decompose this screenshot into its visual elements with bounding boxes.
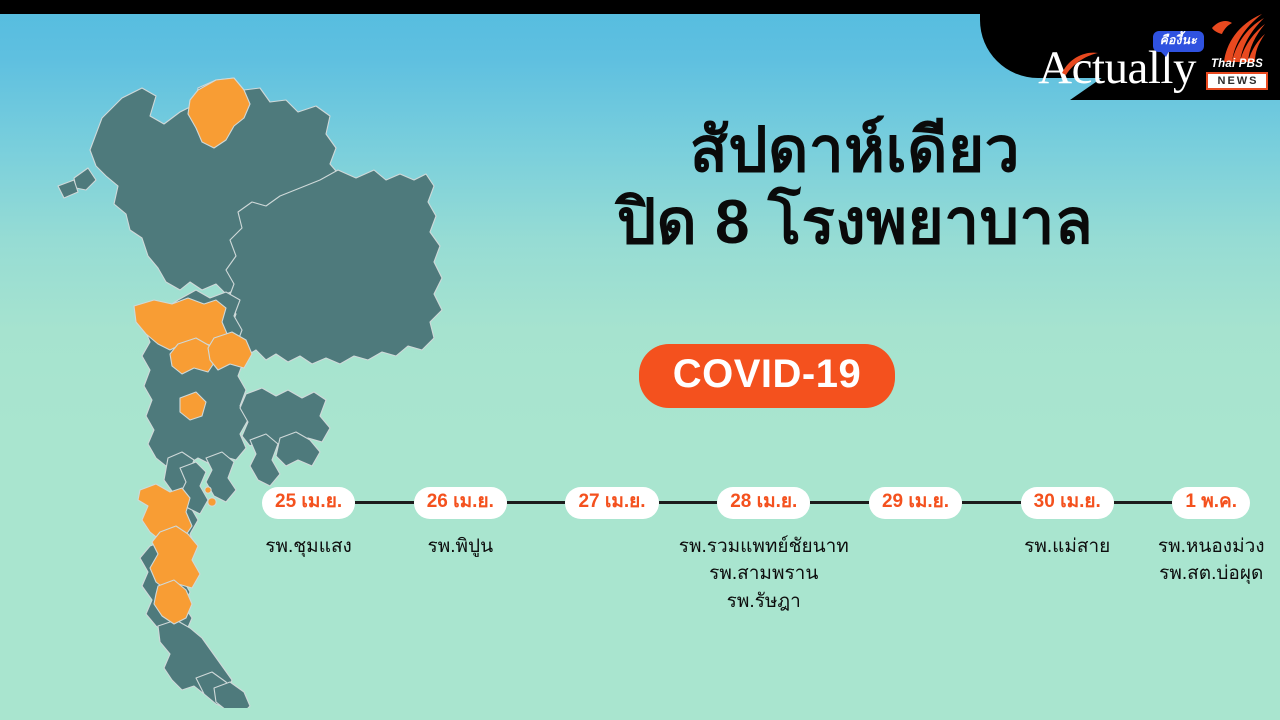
timeline-connector — [355, 501, 414, 504]
timeline-date-pill[interactable]: 25 เม.ย. — [262, 487, 355, 519]
timeline-labels: รพ.ชุมแสงรพ.พิปูนรพ.รวมแพทย์ชัยนาทรพ.สาม… — [262, 533, 1250, 673]
timeline-connector — [962, 501, 1021, 504]
thaipbs-name: Thai PBS — [1202, 58, 1272, 70]
island-samui — [205, 487, 211, 493]
hospital-name: รพ.แม่สาย — [1024, 533, 1110, 561]
timeline-date-pill[interactable]: 28 เม.ย. — [717, 487, 810, 519]
timeline-node-3[interactable]: 27 เม.ย. — [565, 487, 658, 519]
timeline-date-pill[interactable]: 26 เม.ย. — [414, 487, 507, 519]
timeline-date-pill[interactable]: 27 เม.ย. — [565, 487, 658, 519]
hospital-name: รพ.หนองม่วง — [1158, 533, 1265, 561]
page-title: สัปดาห์เดียว ปิด 8 โรงพยาบาล — [460, 118, 1250, 255]
timeline-date-pill[interactable]: 30 เม.ย. — [1021, 487, 1114, 519]
hospital-name: รพ.สต.บ่อผุด — [1158, 560, 1265, 588]
hospital-name: รพ.ชุมแสง — [265, 533, 352, 561]
timeline: 25 เม.ย.26 เม.ย.27 เม.ย.28 เม.ย.29 เม.ย.… — [262, 487, 1250, 687]
timeline-node-4[interactable]: 28 เม.ย. — [717, 487, 810, 519]
actually-logo: Actually คืองี้นะ — [1038, 45, 1196, 94]
khuengi-badge: คืองี้นะ — [1153, 31, 1204, 52]
timeline-hospital-list: รพ.หนองม่วงรพ.สต.บ่อผุด — [1158, 533, 1265, 588]
timeline-rail: 25 เม.ย.26 เม.ย.27 เม.ย.28 เม.ย.29 เม.ย.… — [262, 487, 1250, 519]
timeline-hospital-list: รพ.แม่สาย — [1024, 533, 1110, 561]
thaipbs-logo: Thai PBS NEWS — [1202, 10, 1272, 94]
timeline-hospital-list: รพ.ชุมแสง — [265, 533, 352, 561]
timeline-connector — [659, 501, 718, 504]
headline-line-2: ปิด 8 โรงพยาบาล — [460, 190, 1250, 256]
timeline-hospital-list: รพ.พิปูน — [428, 533, 494, 561]
hospital-name: รพ.พิปูน — [428, 533, 494, 561]
hospital-name: รพ.สามพราน — [679, 560, 849, 588]
thaipbs-news-label: NEWS — [1208, 74, 1266, 88]
timeline-node-5[interactable]: 29 เม.ย. — [869, 487, 962, 519]
headline-line-1: สัปดาห์เดียว — [460, 118, 1250, 184]
hospital-name: รพ.รัษฎา — [679, 588, 849, 616]
timeline-node-1[interactable]: 25 เม.ย. — [262, 487, 355, 519]
timeline-connector — [1114, 501, 1173, 504]
thaipbs-news-plate: NEWS — [1206, 72, 1268, 90]
timeline-node-6[interactable]: 30 เม.ย. — [1021, 487, 1114, 519]
timeline-date-pill[interactable]: 1 พ.ค. — [1172, 487, 1250, 519]
covid-badge-row: COVID-19 — [0, 344, 1280, 408]
brand-logo-block: Actually คืองี้นะ Thai PBS NEWS — [1038, 10, 1272, 94]
timeline-node-2[interactable]: 26 เม.ย. — [414, 487, 507, 519]
island-phangan — [208, 498, 216, 506]
timeline-connector — [507, 501, 566, 504]
timeline-date-pill[interactable]: 29 เม.ย. — [869, 487, 962, 519]
timeline-node-7[interactable]: 1 พ.ค. — [1172, 487, 1250, 519]
timeline-hospital-list: รพ.รวมแพทย์ชัยนาทรพ.สามพรานรพ.รัษฎา — [679, 533, 849, 616]
timeline-connector — [810, 501, 869, 504]
hospital-name: รพ.รวมแพทย์ชัยนาท — [679, 533, 849, 561]
infographic-canvas: Actually คืองี้นะ Thai PBS NEWS — [0, 0, 1280, 720]
covid-badge: COVID-19 — [639, 344, 896, 408]
